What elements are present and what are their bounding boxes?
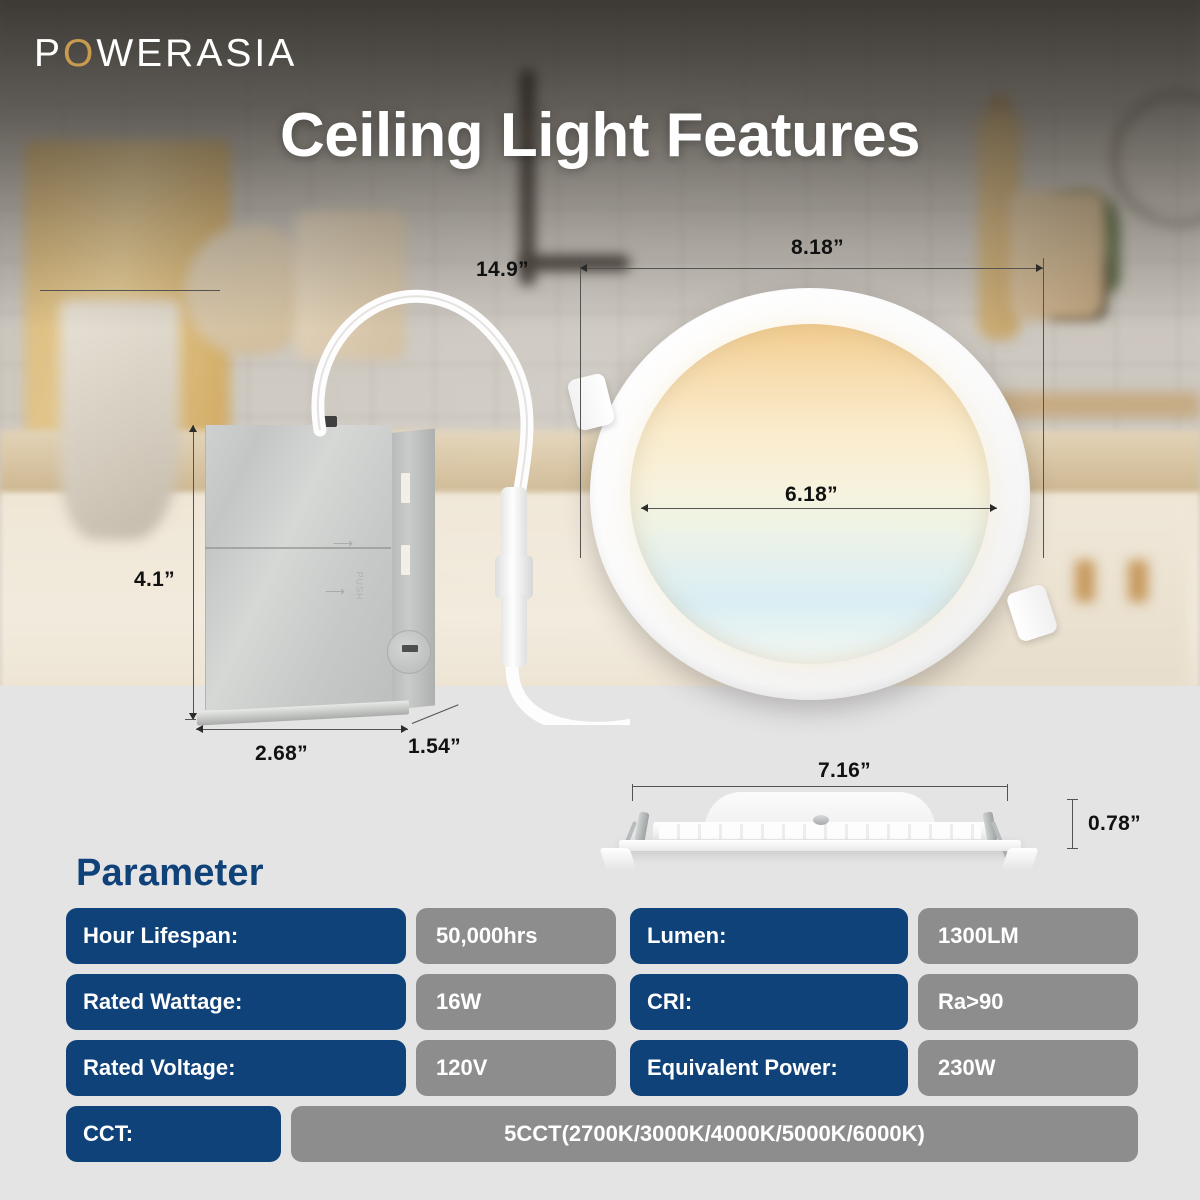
- brand-logo-accent-o: O: [63, 32, 96, 75]
- connector-male-end: [501, 487, 527, 563]
- profile-flange: [619, 840, 1021, 851]
- table-row: CCT: 5CCT(2700K/3000K/4000K/5000K/6000K): [66, 1106, 1138, 1162]
- param-value-rated-wattage: 16W: [416, 974, 616, 1030]
- dim-label-lens-diameter: 6.18”: [785, 483, 838, 507]
- param-value-equivalent-power: 230W: [918, 1040, 1138, 1096]
- param-value-rated-voltage: 120V: [416, 1040, 616, 1096]
- param-value-cri: Ra>90: [918, 974, 1138, 1030]
- profile-foot-left: [599, 848, 636, 870]
- dim-ext-left-outer: [580, 258, 581, 558]
- dim-label-profile-width: 7.16”: [818, 759, 871, 783]
- table-row: Rated Wattage: 16W CRI: Ra>90: [66, 974, 1138, 1030]
- param-label-lumen: Lumen:: [630, 908, 908, 964]
- param-value-hour-lifespan: 50,000hrs: [416, 908, 616, 964]
- param-label-rated-wattage: Rated Wattage:: [66, 974, 406, 1030]
- table-row: Hour Lifespan: 50,000hrs Lumen: 1300LM: [66, 908, 1138, 964]
- dim-tick-profile-right: [1007, 784, 1008, 801]
- dim-label-jbox-height: 4.1”: [134, 568, 175, 592]
- dim-ext-right-outer: [1043, 258, 1044, 558]
- page-title: Ceiling Light Features: [0, 100, 1200, 171]
- param-label-rated-voltage: Rated Voltage:: [66, 1040, 406, 1096]
- table-row: Rated Voltage: 120V Equivalent Power: 23…: [66, 1040, 1138, 1096]
- param-label-hour-lifespan: Hour Lifespan:: [66, 908, 406, 964]
- parameter-heading: Parameter: [76, 852, 264, 895]
- connector-female-end: [501, 593, 527, 667]
- dim-arrow-jbox-width-left-icon: [196, 725, 203, 733]
- dim-label-jbox-width: 2.68”: [255, 742, 308, 766]
- dim-line-outer-diameter: [580, 268, 1043, 269]
- dim-arrow-lens-right-icon: [990, 504, 997, 512]
- param-label-cri: CRI:: [630, 974, 908, 1030]
- dim-arrow-jbox-width-right-icon: [401, 725, 408, 733]
- dim-arrow-jbox-top-icon: [189, 425, 197, 432]
- dim-label-outer-diameter: 8.18”: [791, 236, 844, 260]
- spring-clip-left: [634, 811, 649, 842]
- dim-label-profile-thickness: 0.78”: [1088, 812, 1141, 836]
- dim-tick-thickness-bottom: [1067, 848, 1078, 849]
- quick-connector: [495, 487, 533, 667]
- dim-line-cable: [40, 290, 220, 291]
- profile-ribs: [659, 824, 981, 839]
- dim-label-cable-length: 14.9”: [476, 258, 529, 282]
- param-label-equivalent-power: Equivalent Power:: [630, 1040, 908, 1096]
- infographic-page: ⟶ ⟶ PUSH 14.9”: [0, 0, 1200, 1200]
- dim-line-jbox-height: [193, 425, 194, 720]
- dim-line-profile-width: [632, 786, 1007, 787]
- dim-label-jbox-depth: 1.54”: [408, 735, 461, 759]
- downlight-side-profile: [585, 790, 1055, 860]
- dim-line-profile-thickness: [1072, 799, 1073, 848]
- param-label-cct: CCT:: [66, 1106, 281, 1162]
- connector-cable: [280, 255, 630, 725]
- parameter-table: Hour Lifespan: 50,000hrs Lumen: 1300LM R…: [66, 908, 1138, 1172]
- brand-logo: POWERASIA: [34, 32, 297, 76]
- dim-tick-jbox-bottom: [185, 719, 196, 720]
- dim-line-jbox-width: [196, 729, 408, 730]
- dim-arrow-outer-left-icon: [580, 264, 587, 272]
- dim-line-lens-diameter: [641, 508, 997, 509]
- brand-logo-prefix: P: [34, 32, 63, 75]
- dim-arrow-lens-left-icon: [641, 504, 648, 512]
- dim-arrow-outer-right-icon: [1036, 264, 1043, 272]
- param-value-lumen: 1300LM: [918, 908, 1138, 964]
- dim-tick-thickness-top: [1067, 799, 1078, 800]
- profile-center-nub: [813, 815, 829, 825]
- param-value-cct: 5CCT(2700K/3000K/4000K/5000K/6000K): [291, 1106, 1138, 1162]
- brand-logo-suffix: WERASIA: [96, 32, 297, 75]
